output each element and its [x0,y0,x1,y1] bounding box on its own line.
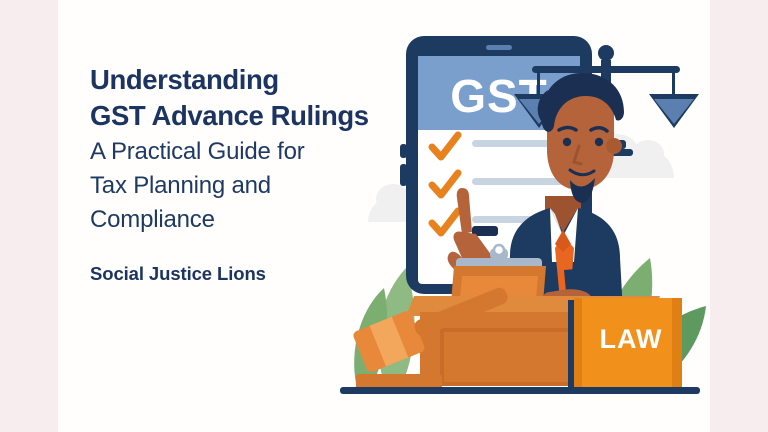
headline-line-1: Understanding [90,62,410,98]
headline-line-2: GST Advance Rulings [90,98,410,134]
artwork-stage: GST [58,0,710,432]
law-book: LAW [568,298,682,390]
subtitle-line-3: Compliance [90,203,410,237]
subtitle-line-1: A Practical Guide for [90,135,410,169]
law-book-label: LAW [600,324,663,354]
banner-canvas: GST [0,0,768,432]
subtitle-line-2: Tax Planning and [90,169,410,203]
floor-line [340,387,700,394]
frame-border-left [0,0,58,432]
brand-name: Social Justice Lions [90,263,410,285]
frame-border-right [710,0,768,432]
text-block: Understanding GST Advance Rulings A Prac… [90,62,410,285]
